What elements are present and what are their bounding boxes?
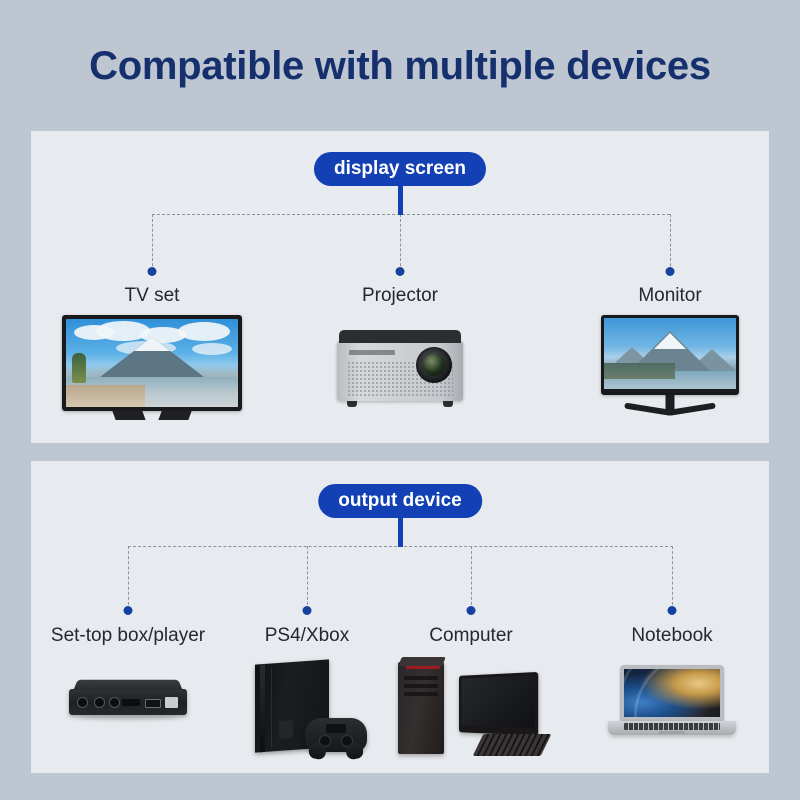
badge-display-screen[interactable]: display screen <box>314 152 486 186</box>
television-image <box>62 315 242 421</box>
node-dot-monitor <box>666 267 675 276</box>
tv-screen <box>66 319 238 407</box>
badge-output-device[interactable]: output device <box>318 484 482 518</box>
projector-foot-left <box>347 401 357 407</box>
projector-brand-mark <box>349 350 395 355</box>
lan-port-icon <box>165 697 178 708</box>
computer-tower <box>398 662 444 754</box>
node-label-projector: Projector <box>362 285 438 307</box>
laptop-screen <box>624 669 720 717</box>
node-dot-projector <box>396 267 405 276</box>
set-top-box-rear-ports <box>69 689 187 715</box>
usb-port-icon <box>145 699 161 708</box>
node-label-tv-set: TV set <box>125 285 180 307</box>
node-dot-settop <box>124 606 133 615</box>
monitor-base <box>625 410 715 419</box>
infographic-page: Compatible with multiple devices display… <box>0 0 800 800</box>
node-label-set-top-box: Set-top box/player <box>51 625 205 647</box>
laptop-trackpad <box>659 731 685 734</box>
game-console-image <box>247 662 367 754</box>
laptop-keyboard <box>624 723 720 730</box>
connector-vline-monitor <box>670 214 671 271</box>
connector-vline-settop <box>128 546 129 610</box>
projector-body <box>337 341 463 401</box>
connector-hline-display <box>152 214 670 215</box>
projector-top-panel <box>339 330 461 343</box>
node-label-ps4-xbox: PS4/Xbox <box>265 625 350 647</box>
game-controller <box>305 718 367 752</box>
tv-bezel <box>62 315 242 411</box>
node-label-computer: Computer <box>429 625 512 647</box>
set-top-box-image <box>69 677 187 731</box>
stem-output-device <box>398 516 403 547</box>
desktop-computer-image <box>396 656 546 758</box>
stem-display-screen <box>398 184 403 215</box>
monitor-bezel <box>601 315 739 395</box>
page-title: Compatible with multiple devices <box>0 44 800 88</box>
connector-vline-projector <box>400 214 401 271</box>
node-dot-notebook <box>668 606 677 615</box>
laptop-lid <box>620 665 724 723</box>
tv-stand <box>116 411 188 415</box>
monitor-image <box>601 315 739 421</box>
connector-vline-notebook <box>672 546 673 610</box>
projector-foot-right <box>443 401 453 407</box>
node-dot-computer <box>467 606 476 615</box>
computer-keyboard <box>473 734 552 756</box>
connector-vline-console <box>307 546 308 610</box>
node-label-notebook: Notebook <box>631 625 712 647</box>
laptop-image <box>608 665 736 741</box>
projector-image <box>337 330 463 410</box>
node-label-monitor: Monitor <box>638 285 701 307</box>
connector-vline-tv <box>152 214 153 271</box>
monitor-screen <box>604 318 736 389</box>
projector-lens <box>416 347 452 383</box>
hdmi-port-icon <box>122 699 140 706</box>
node-dot-tv <box>148 267 157 276</box>
computer-monitor <box>459 672 538 736</box>
node-dot-console <box>303 606 312 615</box>
connector-vline-computer <box>471 546 472 610</box>
